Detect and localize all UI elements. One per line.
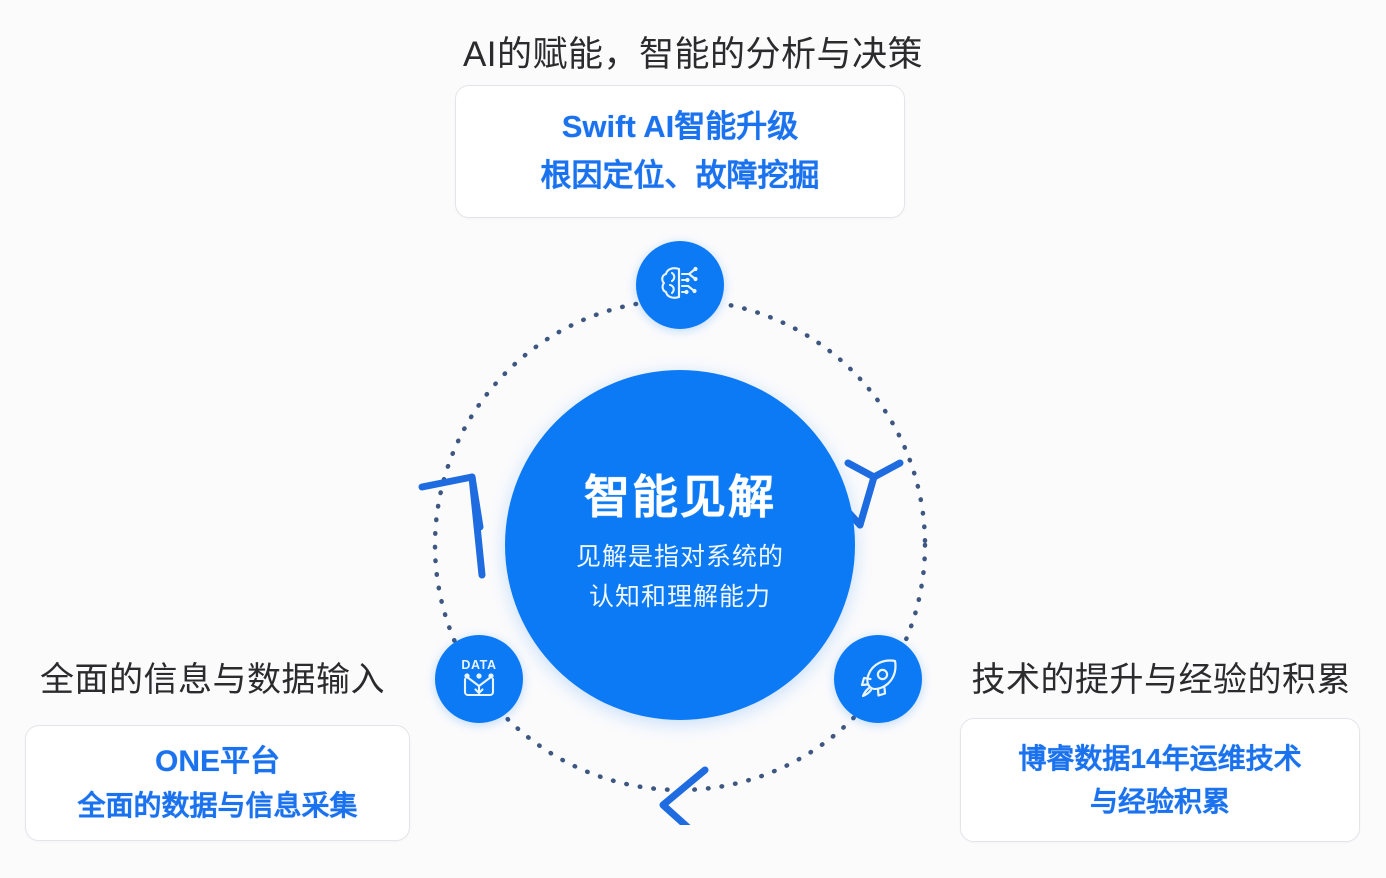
heading-top: AI的赋能，智能的分析与决策 xyxy=(0,36,1386,75)
card-one-platform[interactable]: ONE平台 全面的数据与信息采集 xyxy=(25,725,410,841)
core-subtitle-line1: 见解是指对系统的 xyxy=(576,537,784,578)
card-one-platform-line1: ONE平台 xyxy=(155,739,280,785)
ai-brain-circuit-icon xyxy=(655,260,705,310)
cycle-arrow-bottom xyxy=(663,770,705,825)
card-experience-line2: 与经验积累 xyxy=(1090,780,1230,823)
core-subtitle-line2: 认知和理解能力 xyxy=(589,577,771,618)
data-icon-label: DATA xyxy=(461,658,496,672)
diagram-canvas: AI的赋能，智能的分析与决策 Swift AI智能升级 根因定位、故障挖掘 xyxy=(0,0,1386,878)
heading-right: 技术的提升与经验的积累 xyxy=(972,662,1352,699)
badge-rocket[interactable] xyxy=(834,635,922,723)
core-circle[interactable]: 智能见解 见解是指对系统的 认知和理解能力 xyxy=(505,370,855,720)
card-ai-upgrade-line1: Swift AI智能升级 xyxy=(562,103,799,152)
rocket-icon xyxy=(853,654,903,704)
core-title: 智能见解 xyxy=(584,472,776,523)
badge-data-collection[interactable]: DATA xyxy=(435,635,523,723)
card-ai-upgrade-line2: 根因定位、故障挖掘 xyxy=(541,152,820,201)
card-experience[interactable]: 博睿数据14年运维技术 与经验积累 xyxy=(960,718,1360,842)
card-experience-line1: 博睿数据14年运维技术 xyxy=(1018,737,1301,780)
data-collection-icon: DATA xyxy=(453,653,505,705)
card-ai-upgrade[interactable]: Swift AI智能升级 根因定位、故障挖掘 xyxy=(455,85,905,218)
badge-ai-brain[interactable] xyxy=(636,241,724,329)
cycle-arrow-upper-left xyxy=(422,477,482,575)
heading-left: 全面的信息与数据输入 xyxy=(40,662,385,699)
card-one-platform-line2: 全面的数据与信息采集 xyxy=(77,785,357,828)
